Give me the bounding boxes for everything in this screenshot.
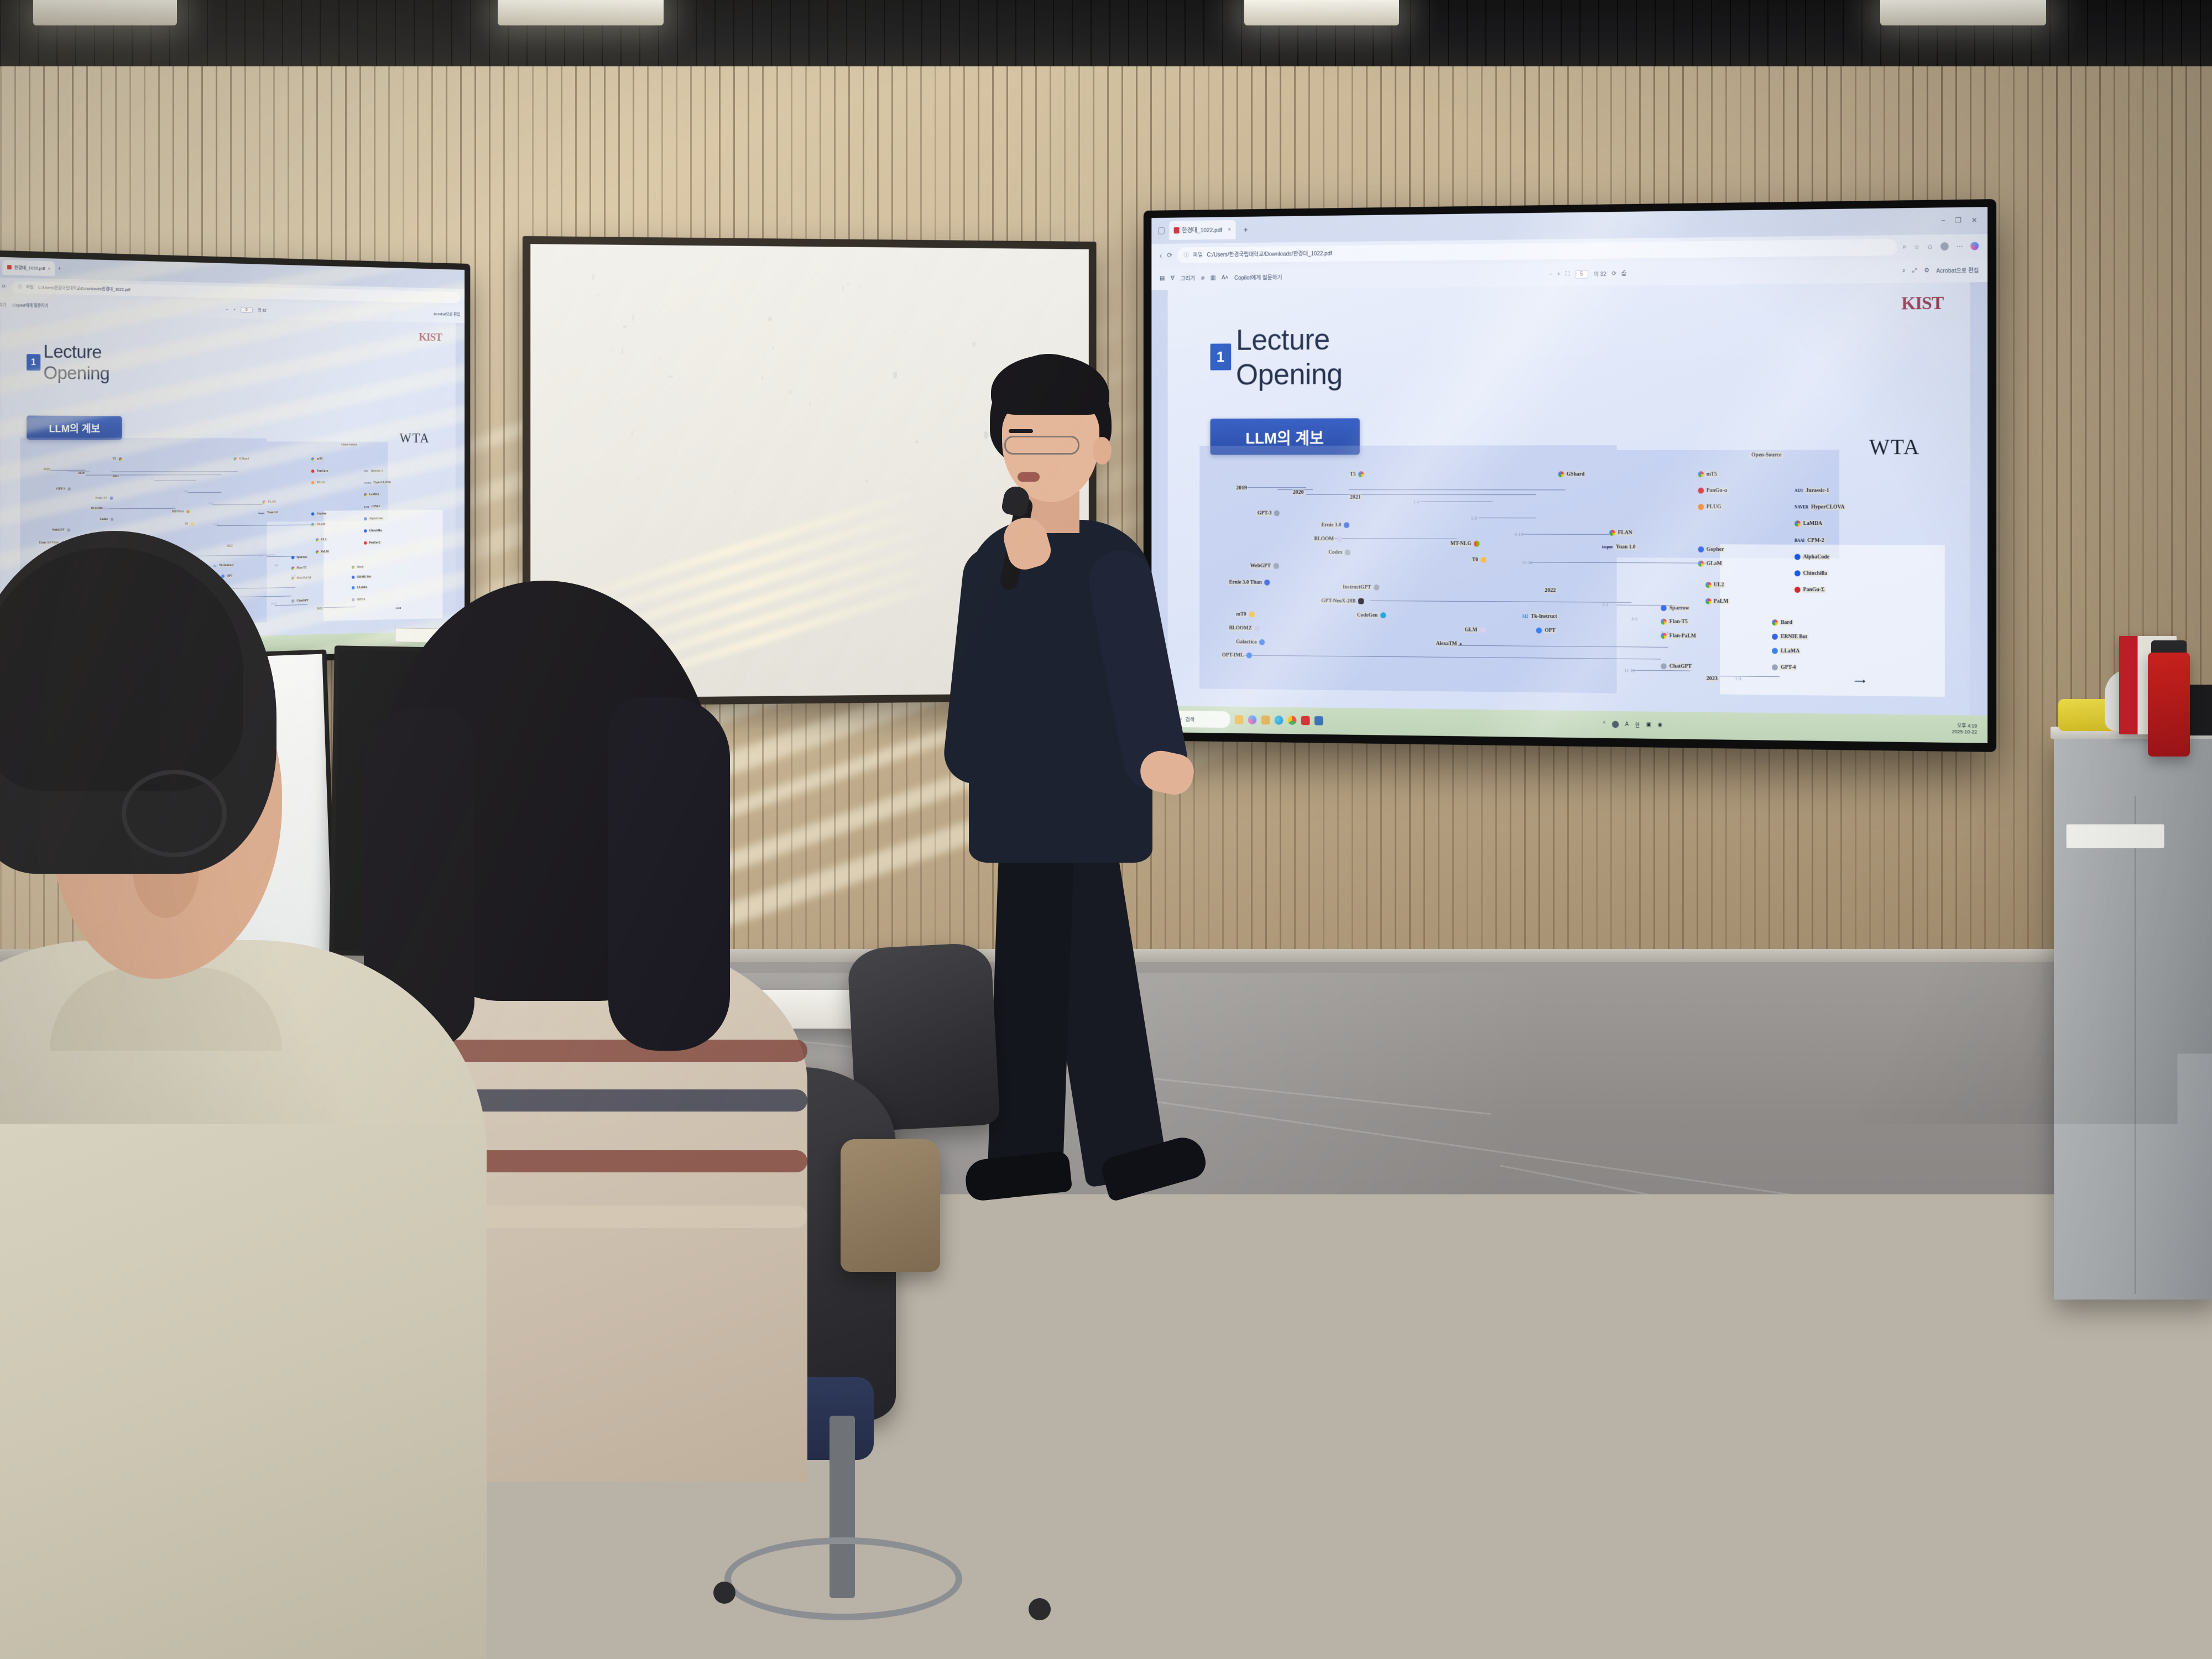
vendor-logo-icon bbox=[1772, 648, 1778, 654]
whiteboard-marker-smudge bbox=[623, 325, 627, 328]
display-screen-main: 한경대_1022.pdf × + − ❐ ✕ ‹ ⟳ ⓘ bbox=[1151, 207, 1987, 743]
vendor-logo-icon: NAVER bbox=[1794, 505, 1808, 510]
vendor-logo-icon bbox=[311, 469, 314, 473]
presenter-ear bbox=[1093, 437, 1112, 465]
whiteboard-marker-smudge bbox=[669, 375, 672, 378]
llm-node-label: LaMDA bbox=[368, 493, 380, 497]
ceiling-slat bbox=[376, 0, 377, 77]
ceiling-slat bbox=[978, 0, 979, 77]
llm-node-label: GPT-3 bbox=[55, 488, 66, 491]
clock-time: 오후 4:19 bbox=[1952, 723, 1978, 729]
acrobat-edit-button[interactable]: Acrobat으로 편집 bbox=[434, 311, 460, 317]
ceiling-slat bbox=[1824, 0, 1825, 77]
ceiling-slat bbox=[959, 0, 960, 77]
pdf-viewport[interactable]: KIST 1 Lecture Opening LLM의 계보 WTA Open-… bbox=[1151, 282, 1987, 715]
year-marker: 2020 bbox=[1292, 489, 1305, 495]
kist-logo: KIST bbox=[1901, 293, 1943, 315]
equipment-cabinet bbox=[2054, 735, 2212, 1300]
llm-node: T0 bbox=[184, 522, 194, 525]
connector-line bbox=[86, 475, 112, 476]
llm-node: GPT-4 bbox=[1772, 665, 1797, 671]
ceiling-slat bbox=[714, 0, 716, 77]
llm-node-label: Codex bbox=[98, 518, 109, 521]
llm-node-label: FLAN bbox=[1617, 530, 1634, 536]
ceiling-slat bbox=[1147, 0, 1148, 77]
ceiling-slat bbox=[282, 0, 283, 77]
month-marker: 4-6 bbox=[1631, 617, 1637, 622]
vendor-logo-icon bbox=[1259, 639, 1265, 645]
vendor-logo-icon bbox=[1698, 488, 1704, 494]
taskbar-clock-main[interactable]: 오후 4:19 2025-10-22 bbox=[1952, 723, 1978, 735]
llm-node: NAVERHyperCLOVA bbox=[364, 481, 392, 484]
zoom-out-button[interactable]: − bbox=[1548, 272, 1552, 278]
whiteboard-marker-smudge bbox=[622, 347, 623, 354]
llm-node-label: AlphaCode bbox=[1802, 554, 1830, 560]
llm-node-label: PLUG bbox=[1705, 504, 1723, 510]
llm-node: ERNIE Bot bbox=[1772, 634, 1808, 640]
llm-node: WebGPT bbox=[1249, 563, 1279, 569]
vendor-logo-icon bbox=[1698, 471, 1704, 477]
more-ellipsis-icon[interactable]: ⋯ bbox=[1957, 242, 1963, 250]
ceiling-slat bbox=[1034, 0, 1035, 77]
vendor-logo-icon bbox=[233, 457, 236, 461]
whiteboard-marker-smudge bbox=[638, 476, 639, 480]
wta-watermark: WTA bbox=[1869, 434, 1920, 460]
rotate-icon[interactable]: ⟳ bbox=[1611, 270, 1616, 277]
llm-node-label: T5 bbox=[1349, 471, 1357, 477]
llm-node-label: T5 bbox=[111, 457, 117, 461]
llm-node: mT5 bbox=[311, 457, 324, 461]
acrobat-icon[interactable] bbox=[1301, 716, 1310, 726]
vendor-logo-icon bbox=[1794, 554, 1801, 560]
presenter-mouth bbox=[1018, 472, 1040, 482]
vendor-logo-icon: NAVER bbox=[364, 482, 371, 484]
llm-node: OPT bbox=[1536, 627, 1557, 633]
ceiling-slat bbox=[19, 0, 20, 77]
slide-header: 1 Lecture Opening bbox=[27, 341, 169, 385]
ceiling-slat bbox=[827, 0, 828, 77]
llm-node-label: MT-NLG bbox=[171, 510, 185, 513]
vendor-logo-icon bbox=[1274, 510, 1280, 517]
whiteboard-marker-smudge bbox=[632, 314, 634, 322]
llm-node-label: GLaM bbox=[1705, 560, 1723, 566]
app-icon[interactable] bbox=[1314, 716, 1323, 726]
llm-node-label: Flan-PaLM bbox=[1668, 633, 1697, 639]
year-marker: 2021 bbox=[1349, 494, 1362, 500]
connector-line bbox=[46, 469, 86, 470]
ceiling-slat bbox=[470, 0, 471, 77]
timeline-arrow: ⟶ bbox=[1854, 677, 1865, 686]
browser-tab[interactable]: 한경대_1022.pdf × bbox=[2, 260, 55, 276]
page-total-label: 의 32 bbox=[1594, 270, 1606, 278]
llm-node-label: AlphaCode bbox=[368, 517, 384, 520]
ceiling-slat bbox=[188, 0, 189, 77]
llm-node: Sparrow bbox=[1661, 605, 1690, 611]
main-wall-display: 한경대_1022.pdf × + − ❐ ✕ ‹ ⟳ ⓘ bbox=[1144, 199, 1996, 752]
vendor-logo-icon bbox=[191, 522, 194, 525]
llm-node-label: BLOOM bbox=[1313, 536, 1335, 542]
open-source-legend: Open-Source bbox=[340, 444, 358, 447]
search-icon[interactable]: ⌕ bbox=[1902, 243, 1906, 251]
llm-node: InstructGPT bbox=[1342, 585, 1379, 591]
ceiling-light bbox=[1880, 0, 2046, 25]
fit-page-icon[interactable]: ⛶ bbox=[1566, 271, 1569, 278]
vendor-logo-icon bbox=[1705, 582, 1712, 588]
browser-tab-main[interactable]: 한경대_1022.pdf × bbox=[1169, 220, 1235, 240]
ceiling-slat bbox=[0, 0, 1, 77]
ceiling-slat bbox=[320, 0, 321, 77]
vendor-logo-icon bbox=[1698, 546, 1704, 552]
llm-node: CodeGen bbox=[1356, 612, 1386, 618]
llm-node: FLAN bbox=[1609, 530, 1633, 536]
llm-node-label: Codex bbox=[1327, 550, 1343, 556]
read-aloud-icon[interactable]: A˄ bbox=[1222, 275, 1228, 281]
highlight-icon[interactable]: ∀ bbox=[1171, 275, 1175, 282]
llm-node-label: BLOOM bbox=[90, 507, 104, 510]
llm-node-label: Sparrow bbox=[1668, 605, 1691, 611]
address-prefix: 파일 bbox=[26, 284, 33, 290]
llm-node-label: mT5 bbox=[316, 457, 324, 461]
llm-node-label: PaLM bbox=[1713, 598, 1729, 604]
tab-close-icon[interactable]: × bbox=[1228, 227, 1231, 233]
year-marker: 2023 bbox=[1705, 676, 1719, 682]
ceiling-slat bbox=[1410, 0, 1411, 77]
save-icon[interactable]: ⌕ bbox=[1902, 268, 1906, 275]
ceiling-light bbox=[33, 0, 177, 25]
vendor-logo-icon bbox=[1358, 471, 1364, 477]
llm-node-label: Chinchilla bbox=[1802, 570, 1828, 576]
fire-extinguisher bbox=[2148, 653, 2190, 757]
ceiling-slat bbox=[997, 0, 998, 77]
print-icon[interactable]: ⎙ bbox=[1621, 270, 1626, 278]
address-input-main[interactable]: ⓘ 파일 C:/Users/한경국립대학교/Downloads/한경대_1022… bbox=[1177, 239, 1897, 263]
llm-node-label: Yuan 1.0 bbox=[266, 511, 279, 514]
whiteboard-marker-smudge bbox=[768, 317, 772, 321]
month-marker: 5-8 bbox=[1471, 515, 1477, 521]
chrome-icon[interactable] bbox=[1288, 716, 1297, 726]
ceiling-slat bbox=[1128, 0, 1129, 77]
acrobat-edit-button[interactable]: Acrobat으로 편집 bbox=[1936, 266, 1979, 275]
section-number-badge: 1 bbox=[27, 354, 40, 371]
presenter-leg-left bbox=[987, 839, 1074, 1185]
vendor-logo-icon bbox=[1536, 627, 1542, 633]
llm-node-label: Jurassic-1 bbox=[1804, 488, 1830, 494]
ceiling-slat bbox=[226, 0, 227, 77]
tab-close-icon[interactable]: × bbox=[48, 266, 50, 271]
new-tab-button[interactable]: + bbox=[1240, 225, 1251, 234]
slide-canvas-main: KIST 1 Lecture Opening LLM의 계보 WTA Open-… bbox=[1167, 282, 1970, 715]
vendor-logo-icon bbox=[186, 510, 190, 513]
open-source-legend: Open-Source bbox=[1750, 452, 1783, 458]
whiteboard-marker-smudge bbox=[859, 283, 861, 289]
llm-node: GShard bbox=[1558, 471, 1585, 477]
ceiling-slat bbox=[1222, 0, 1223, 77]
llm-node-label: FLAN bbox=[267, 500, 277, 504]
ceiling-slat bbox=[451, 0, 452, 77]
llm-node: AI21Jurassic-1 bbox=[1794, 488, 1830, 494]
llm-node: BAAICPM-2 bbox=[1794, 537, 1825, 543]
vendor-logo-icon bbox=[1772, 634, 1778, 640]
vendor-logo-icon bbox=[1794, 570, 1801, 576]
llm-node: PaLM bbox=[1705, 598, 1730, 604]
page-layout-icon[interactable]: ▤ bbox=[1160, 275, 1165, 282]
fullscreen-icon[interactable]: ⤢ bbox=[1912, 267, 1917, 274]
chair-wheel bbox=[713, 1582, 735, 1604]
llm-node: LaMDA bbox=[1794, 521, 1823, 527]
ceiling-slat bbox=[2087, 0, 2088, 77]
ceiling-slat bbox=[1655, 0, 1656, 77]
llm-node-label: GShard bbox=[1566, 471, 1585, 477]
ceiling-slat bbox=[2068, 0, 2069, 77]
llm-node-label: LaMDA bbox=[1802, 521, 1824, 527]
input-latin-indicator[interactable]: A bbox=[1625, 722, 1629, 728]
info-circle-icon: ⓘ bbox=[18, 284, 22, 290]
connector-line bbox=[1306, 494, 1349, 495]
input-korean-indicator[interactable]: 한 bbox=[1635, 721, 1640, 729]
vendor-logo-icon bbox=[111, 518, 114, 521]
wall-slat bbox=[2013, 66, 2015, 962]
ceiling-light bbox=[498, 0, 664, 25]
ceiling-slat bbox=[1542, 0, 1543, 77]
collections-icon[interactable]: ✩ bbox=[1927, 243, 1933, 251]
llm-node-label: MT-NLG bbox=[1449, 541, 1473, 547]
llm-node: FLAN bbox=[263, 500, 277, 504]
ceiling-slat bbox=[1711, 0, 1712, 77]
copilot-ask-button[interactable]: Copilot에게 질문하기 bbox=[1234, 273, 1282, 281]
ceiling-slat bbox=[244, 0, 246, 77]
ceiling-slat bbox=[1448, 0, 1449, 77]
whiteboard-marker-smudge bbox=[789, 390, 792, 394]
ceiling-slat bbox=[357, 0, 358, 77]
ceiling-slat bbox=[2181, 0, 2182, 77]
ceiling-slat bbox=[677, 0, 678, 77]
vendor-logo-icon bbox=[364, 517, 367, 520]
ceiling-slat bbox=[902, 0, 904, 77]
llm-node: Bard bbox=[1772, 620, 1794, 626]
reload-icon[interactable]: ⟳ bbox=[2, 284, 6, 290]
month-marker: 11-12 bbox=[213, 524, 219, 526]
llm-node: Flan-T5 bbox=[1661, 619, 1688, 625]
draw-tool-button[interactable]: 그리기 bbox=[1180, 274, 1195, 283]
edge-icon[interactable] bbox=[1275, 716, 1284, 725]
presenter-brow bbox=[1009, 429, 1033, 433]
tab-title: 한경대_1022.pdf bbox=[14, 264, 45, 271]
new-tab-button[interactable]: + bbox=[58, 266, 61, 272]
llm-node: ChatGPT bbox=[1661, 664, 1692, 670]
ceiling-slat bbox=[884, 0, 885, 77]
llm-node: AlphaCode bbox=[1794, 554, 1830, 560]
llm-node: GShard bbox=[233, 457, 250, 461]
vendor-logo-icon bbox=[109, 496, 113, 499]
month-marker: 1-4 bbox=[1413, 499, 1420, 504]
month-marker: 9-10 bbox=[208, 503, 213, 505]
ceiling-slat bbox=[1767, 0, 1768, 77]
llm-node-label: HyperCLOVA bbox=[373, 481, 392, 484]
slide-title: Lecture Opening bbox=[44, 341, 169, 385]
llm-node: LaMDA bbox=[364, 493, 380, 497]
ceiling-slat bbox=[1861, 0, 1863, 77]
llm-node-label: Gopher bbox=[1705, 546, 1725, 552]
star-icon[interactable]: ☆ bbox=[1914, 243, 1920, 251]
ceiling-slat bbox=[1166, 0, 1167, 77]
llm-node: UL2 bbox=[1705, 582, 1725, 588]
vendor-logo-icon bbox=[364, 493, 367, 497]
page-nav: − + 5 의 32 bbox=[226, 307, 267, 314]
chair-wheel bbox=[1029, 1598, 1051, 1620]
vendor-logo-icon bbox=[1698, 560, 1704, 566]
ceiling-slat bbox=[1429, 0, 1430, 77]
vendor-logo-icon bbox=[1609, 530, 1615, 536]
llm-node: AlphaCode bbox=[364, 517, 384, 520]
llm-node: GPT-3 bbox=[1256, 510, 1280, 517]
window-restore-button[interactable]: ❐ bbox=[1955, 216, 1961, 225]
ceiling-slat bbox=[1598, 0, 1599, 77]
llm-node: mT5 bbox=[1698, 471, 1718, 477]
llm-node: Chinchilla bbox=[1794, 570, 1828, 576]
llm-node-label: Jurassic-1 bbox=[370, 469, 384, 473]
wall-slat bbox=[2027, 66, 2029, 962]
zoom-in-button[interactable]: + bbox=[1557, 272, 1561, 278]
clock-date: 2025-10-22 bbox=[1952, 729, 1978, 735]
display-icon[interactable]: ▣ bbox=[1646, 722, 1651, 728]
llm-node-label: UL2 bbox=[1713, 582, 1725, 588]
ceiling-slat bbox=[1730, 0, 1731, 77]
copilot-ask-button[interactable]: Copilot에게 질문하기 bbox=[13, 302, 49, 309]
network-icon[interactable] bbox=[1612, 721, 1619, 728]
llm-node: PLUG bbox=[1698, 504, 1722, 510]
llm-node-label: ERNIE Bot bbox=[1780, 634, 1808, 640]
month-marker: 1-4 bbox=[150, 478, 153, 481]
ceiling-slat bbox=[1786, 0, 1787, 77]
ceiling-slat bbox=[395, 0, 396, 77]
eraser-icon[interactable]: ⌀ bbox=[1201, 275, 1204, 281]
back-arrow-icon[interactable]: ‹ bbox=[1160, 251, 1162, 259]
vendor-logo-icon bbox=[1481, 557, 1486, 564]
llm-node-label: T0 bbox=[1471, 557, 1479, 564]
vendor-logo-icon bbox=[1661, 619, 1667, 625]
text-icon[interactable]: ▥ bbox=[1211, 275, 1215, 281]
zoom-in-button[interactable]: + bbox=[233, 307, 236, 312]
copilot-icon[interactable] bbox=[1970, 242, 1979, 251]
llm-node-label: CodeGen bbox=[1356, 612, 1379, 618]
llm-node-label: PLUG bbox=[316, 482, 326, 485]
ceiling-slat bbox=[263, 0, 264, 77]
vendor-logo-icon bbox=[67, 488, 71, 491]
llm-node-label: T0 bbox=[184, 522, 189, 525]
whiteboard-marker-smudge bbox=[809, 400, 811, 407]
window-minimize-button[interactable]: − bbox=[1941, 216, 1945, 225]
wta-watermark: WTA bbox=[399, 430, 430, 446]
llm-node-label: Gopher bbox=[316, 513, 327, 516]
llm-node-label: PanGu-α bbox=[1705, 488, 1728, 494]
llm-node: T0 bbox=[1471, 557, 1486, 564]
llm-node: PLUG bbox=[311, 482, 326, 485]
vendor-logo-icon bbox=[1661, 664, 1667, 670]
presenter-fringe bbox=[991, 355, 1109, 415]
whiteboard-marker-smudge bbox=[596, 294, 599, 296]
tab-title: 한경대_1022.pdf bbox=[1182, 226, 1222, 234]
llm-node: PanGu-Σ bbox=[1794, 587, 1825, 593]
vendor-logo-icon bbox=[311, 513, 314, 516]
slide-subtitle-chip: LLM의 계보 bbox=[27, 416, 122, 440]
vendor-logo-icon bbox=[1273, 563, 1279, 569]
ceiling-slat bbox=[790, 0, 791, 77]
llm-node-label: GShard bbox=[238, 457, 250, 461]
ceiling-slat bbox=[1749, 0, 1750, 77]
llm-node: BLOOM bbox=[1313, 536, 1342, 542]
vendor-logo-icon bbox=[1772, 665, 1778, 671]
tab-search-icon[interactable] bbox=[1158, 227, 1165, 234]
llm-node: MT-NLG bbox=[1449, 541, 1480, 547]
llm-node: Gopher bbox=[1698, 546, 1725, 552]
settings-gear-icon[interactable]: ⚙ bbox=[1924, 268, 1929, 274]
folder-icon[interactable] bbox=[1261, 716, 1270, 725]
llm-node-label: WebGPT bbox=[1249, 563, 1272, 569]
month-marker: 1-3 bbox=[1602, 602, 1608, 608]
slide-title: Lecture Opening bbox=[1236, 321, 1441, 392]
vendor-logo-icon bbox=[1337, 536, 1342, 542]
llm-node-label: GPT-4 bbox=[1780, 665, 1797, 671]
draw-tool[interactable]: 그리기 bbox=[0, 302, 6, 308]
vendor-logo-icon bbox=[1264, 580, 1270, 586]
reload-icon[interactable]: ⟳ bbox=[1167, 251, 1172, 259]
cabinet-body bbox=[2054, 735, 2212, 1300]
ceiling-slat bbox=[752, 0, 753, 77]
llm-node-label: Flan-T5 bbox=[1668, 619, 1689, 625]
page-number-input[interactable]: 5 bbox=[1575, 270, 1588, 279]
llm-node-label: PanGu-α bbox=[316, 469, 329, 473]
llm-node-label: Ernie 3.0 bbox=[1320, 522, 1342, 528]
vendor-logo-icon: BAAI bbox=[1794, 538, 1804, 542]
chair-base bbox=[724, 1537, 962, 1620]
ceiling-slat bbox=[1185, 0, 1186, 77]
ceiling-slat bbox=[2162, 0, 2163, 77]
month-marker: 1-3 bbox=[1735, 676, 1741, 681]
window-close-button[interactable]: ✕ bbox=[1971, 216, 1978, 225]
whiteboard-marker-smudge bbox=[659, 357, 661, 361]
page-number-input[interactable]: 5 bbox=[241, 307, 253, 313]
llm-node-label: PanGu-Σ bbox=[1802, 587, 1826, 593]
ceiling-slat bbox=[301, 0, 302, 77]
ceiling-slat bbox=[1015, 0, 1016, 77]
ceiling-slat bbox=[846, 0, 847, 77]
kist-logo: KIST bbox=[419, 330, 442, 344]
ceiling-slat bbox=[1692, 0, 1693, 77]
vendor-logo-icon bbox=[1698, 504, 1704, 510]
whiteboard-marker-smudge bbox=[846, 284, 850, 286]
connector-line bbox=[1421, 502, 1493, 502]
profile-avatar-icon[interactable] bbox=[1940, 242, 1949, 251]
zoom-out-button[interactable]: − bbox=[226, 307, 228, 312]
volume-icon[interactable]: ◉ bbox=[1658, 722, 1662, 728]
whiteboard-marker-smudge bbox=[973, 342, 975, 346]
ceiling-slat bbox=[1617, 0, 1618, 77]
ceiling-slat bbox=[808, 0, 810, 77]
whiteboard-marker-smudge bbox=[761, 376, 763, 380]
whiteboard-marker-smudge bbox=[735, 489, 736, 494]
vendor-logo-icon bbox=[105, 507, 108, 510]
vendor-logo-icon bbox=[263, 500, 265, 504]
llm-node: Flan-PaLM bbox=[1661, 633, 1697, 639]
llm-node: Codex bbox=[98, 518, 113, 521]
llm-node: AI21Jurassic-1 bbox=[364, 469, 384, 473]
ceiling-slat bbox=[338, 0, 340, 77]
ceiling-slat bbox=[1805, 0, 1806, 77]
vendor-logo-icon bbox=[1794, 587, 1801, 593]
tray-chevron-icon[interactable]: ^ bbox=[1603, 722, 1605, 728]
llm-node-label: Ernie 3.0 bbox=[94, 496, 108, 499]
llm-node: MT-NLG bbox=[171, 510, 190, 513]
